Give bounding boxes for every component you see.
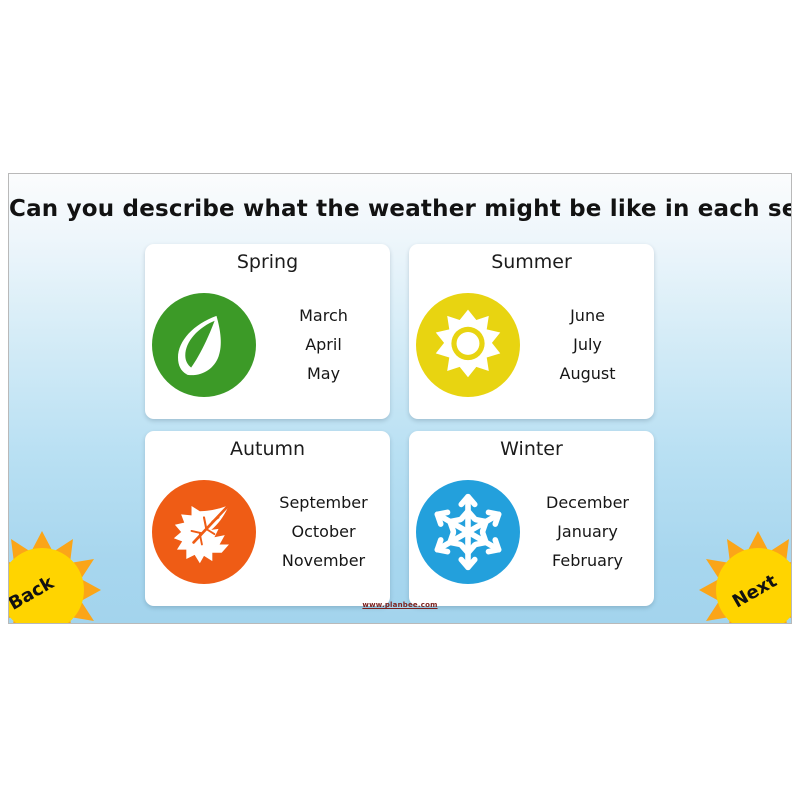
- page-title: Can you describe what the weather might …: [9, 196, 791, 222]
- month-label: August: [560, 365, 616, 383]
- month-label: September: [279, 494, 367, 512]
- season-card-summer[interactable]: Summer: [409, 244, 654, 419]
- season-title-autumn: Autumn: [145, 437, 390, 461]
- maple-leaf-icon: [152, 480, 256, 584]
- next-button[interactable]: Next: [697, 529, 792, 624]
- month-label: November: [282, 552, 365, 570]
- season-cards-grid: Spring March April May: [145, 244, 673, 606]
- season-icon-wrap: [409, 293, 527, 397]
- season-card-body: March April May: [145, 276, 390, 413]
- leaf-icon: [152, 293, 256, 397]
- season-icon-wrap: [145, 293, 263, 397]
- sun-icon: [416, 293, 520, 397]
- season-icon-wrap: [145, 480, 263, 584]
- planbee-credit: www.planbee.com: [9, 601, 791, 609]
- back-button[interactable]: Back: [8, 529, 103, 624]
- season-card-body: December January February: [409, 463, 654, 600]
- month-label: May: [307, 365, 340, 383]
- month-label: June: [570, 307, 605, 325]
- season-title-spring: Spring: [145, 250, 390, 274]
- season-card-autumn[interactable]: Autumn: [145, 431, 390, 606]
- month-label: April: [305, 336, 342, 354]
- season-title-winter: Winter: [409, 437, 654, 461]
- season-card-body: June July August: [409, 276, 654, 413]
- season-card-spring[interactable]: Spring March April May: [145, 244, 390, 419]
- presentation-slide: Can you describe what the weather might …: [8, 173, 792, 624]
- month-label: February: [552, 552, 623, 570]
- month-label: December: [546, 494, 629, 512]
- season-months-winter: December January February: [527, 494, 654, 570]
- season-months-summer: June July August: [527, 307, 654, 383]
- snowflake-icon: [416, 480, 520, 584]
- season-icon-wrap: [409, 480, 527, 584]
- season-months-spring: March April May: [263, 307, 390, 383]
- season-card-winter[interactable]: Winter: [409, 431, 654, 606]
- season-title-summer: Summer: [409, 250, 654, 274]
- month-label: March: [299, 307, 348, 325]
- starburst-icon: [697, 529, 792, 624]
- month-label: January: [557, 523, 618, 541]
- season-months-autumn: September October November: [263, 494, 390, 570]
- month-label: July: [573, 336, 602, 354]
- screenshot-root: Can you describe what the weather might …: [0, 0, 800, 800]
- month-label: October: [291, 523, 355, 541]
- season-card-body: September October November: [145, 463, 390, 600]
